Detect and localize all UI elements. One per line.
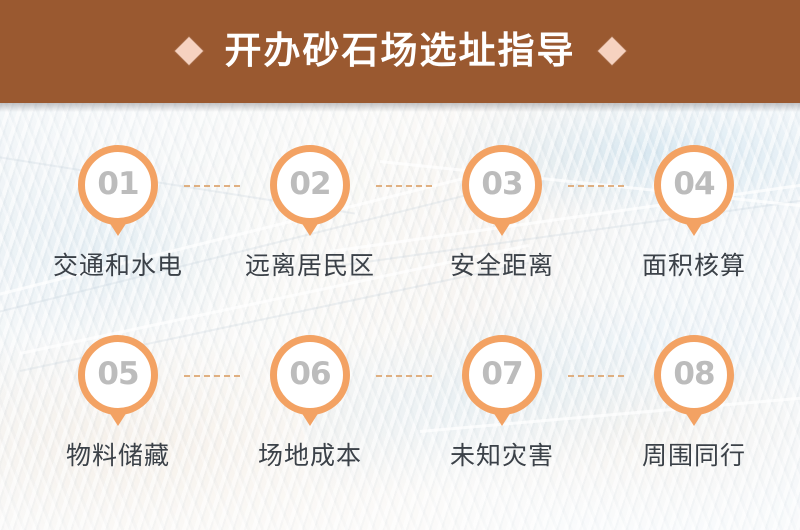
step-item-04[interactable]: 04 面积核算 bbox=[598, 145, 790, 279]
badge-ring-06: 06 bbox=[270, 335, 350, 415]
step-number-02: 02 bbox=[289, 169, 330, 200]
diamond-icon-right bbox=[597, 36, 625, 64]
step-label-04: 面积核算 bbox=[598, 254, 790, 279]
step-number-03: 03 bbox=[481, 169, 522, 200]
badge-pointer-icon-04 bbox=[685, 222, 703, 236]
header-banner: 开办砂石场选址指导 bbox=[0, 0, 800, 103]
step-badge-01[interactable]: 01 bbox=[78, 145, 158, 225]
badge-ring-08: 08 bbox=[654, 335, 734, 415]
step-badge-06[interactable]: 06 bbox=[270, 335, 350, 415]
header-shadow bbox=[0, 103, 800, 112]
badge-pointer-icon-08 bbox=[685, 412, 703, 426]
step-item-03[interactable]: 03 安全距离 bbox=[406, 145, 598, 279]
step-badge-03[interactable]: 03 bbox=[462, 145, 542, 225]
badge-pointer-icon-07 bbox=[493, 412, 511, 426]
step-number-07: 07 bbox=[481, 359, 522, 390]
badge-ring-07: 07 bbox=[462, 335, 542, 415]
badge-pointer-icon-05 bbox=[109, 412, 127, 426]
infographic-page: 开办砂石场选址指导 01 交通和水电 02 bbox=[0, 0, 800, 530]
step-number-01: 01 bbox=[97, 169, 138, 200]
step-badge-04[interactable]: 04 bbox=[654, 145, 734, 225]
step-item-08[interactable]: 08 周围同行 bbox=[598, 335, 790, 469]
diamond-icon-left bbox=[174, 36, 202, 64]
step-label-06: 场地成本 bbox=[214, 444, 406, 469]
badge-pointer-icon-06 bbox=[301, 412, 319, 426]
badge-pointer-icon-01 bbox=[109, 222, 127, 236]
step-badge-05[interactable]: 05 bbox=[78, 335, 158, 415]
step-number-06: 06 bbox=[289, 359, 330, 390]
step-label-07: 未知灾害 bbox=[406, 444, 598, 469]
step-label-03: 安全距离 bbox=[406, 254, 598, 279]
step-badge-07[interactable]: 07 bbox=[462, 335, 542, 415]
step-number-08: 08 bbox=[673, 359, 714, 390]
step-label-05: 物料储藏 bbox=[22, 444, 214, 469]
step-item-01[interactable]: 01 交通和水电 bbox=[22, 145, 214, 279]
step-number-05: 05 bbox=[97, 359, 138, 390]
page-title: 开办砂石场选址指导 bbox=[225, 32, 576, 69]
step-label-01: 交通和水电 bbox=[22, 254, 214, 279]
step-item-06[interactable]: 06 场地成本 bbox=[214, 335, 406, 469]
badge-ring-04: 04 bbox=[654, 145, 734, 225]
badge-ring-05: 05 bbox=[78, 335, 158, 415]
badge-ring-01: 01 bbox=[78, 145, 158, 225]
badge-pointer-icon-02 bbox=[301, 222, 319, 236]
step-item-02[interactable]: 02 远离居民区 bbox=[214, 145, 406, 279]
step-label-02: 远离居民区 bbox=[214, 254, 406, 279]
step-number-04: 04 bbox=[673, 169, 714, 200]
step-item-05[interactable]: 05 物料储藏 bbox=[22, 335, 214, 469]
step-badge-08[interactable]: 08 bbox=[654, 335, 734, 415]
badge-ring-03: 03 bbox=[462, 145, 542, 225]
badge-pointer-icon-03 bbox=[493, 222, 511, 236]
steps-grid: 01 交通和水电 02 远离居民区 03 安全距离 bbox=[0, 103, 800, 530]
step-label-08: 周围同行 bbox=[598, 444, 790, 469]
step-badge-02[interactable]: 02 bbox=[270, 145, 350, 225]
step-item-07[interactable]: 07 未知灾害 bbox=[406, 335, 598, 469]
badge-ring-02: 02 bbox=[270, 145, 350, 225]
